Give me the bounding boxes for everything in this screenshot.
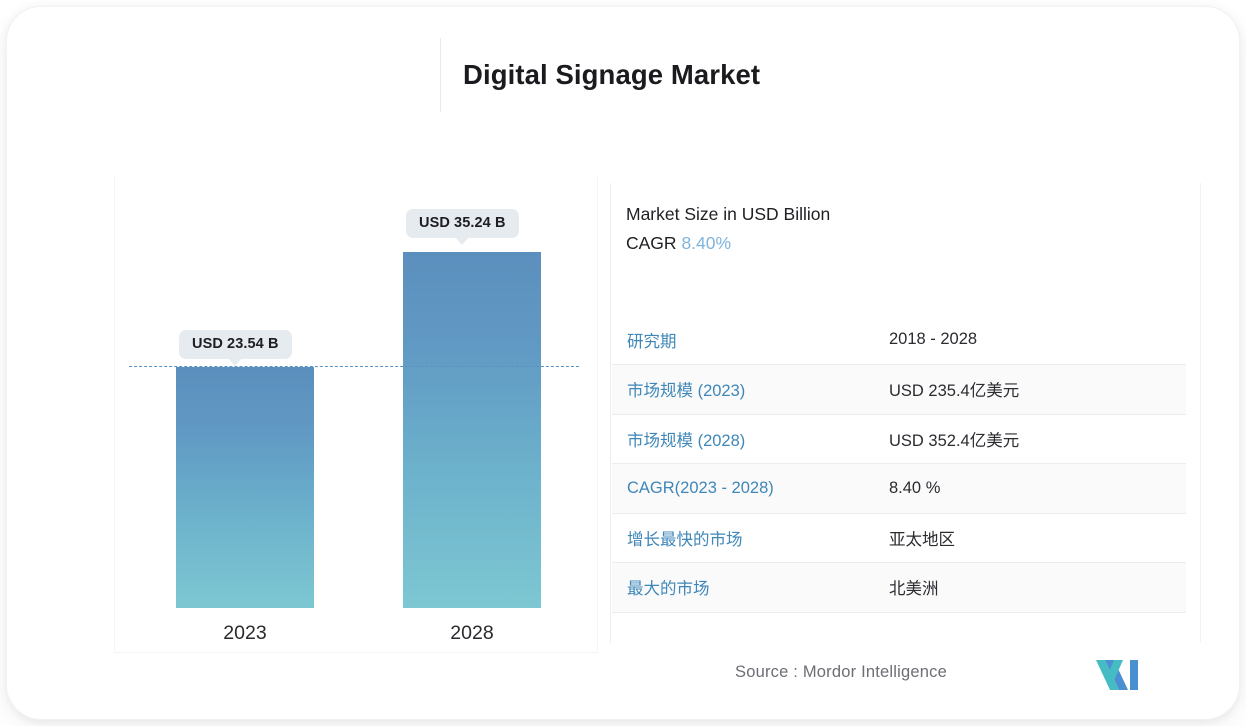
table-row: 市场规模 (2028) USD 352.4亿美元 xyxy=(612,414,1186,464)
footer: Source : Mordor Intelligence xyxy=(735,663,947,682)
page-title: Digital Signage Market xyxy=(463,59,760,91)
table-value: USD 235.4亿美元 xyxy=(889,365,1186,415)
bar-2023 xyxy=(176,367,314,608)
table-key: 研究期 xyxy=(612,315,889,365)
table-value: 2018 - 2028 xyxy=(889,315,1186,365)
table-key: 增长最快的市场 xyxy=(612,513,889,563)
market-summary-table: 研究期 2018 - 2028 市场规模 (2023) USD 235.4亿美元… xyxy=(612,315,1186,613)
info-header: Market Size in USD Billion CAGR 8.40% xyxy=(626,200,830,258)
table-key: 最大的市场 xyxy=(612,563,889,613)
page-title-block: Digital Signage Market xyxy=(440,38,760,112)
x-axis-label-2028: 2028 xyxy=(403,622,541,645)
bar-2028 xyxy=(403,252,541,608)
cagr-label: CAGR xyxy=(626,233,677,253)
table-row: 增长最快的市场 亚太地区 xyxy=(612,513,1186,563)
table-row: 研究期 2018 - 2028 xyxy=(612,315,1186,365)
table-body: 研究期 2018 - 2028 市场规模 (2023) USD 235.4亿美元… xyxy=(612,315,1186,612)
mordor-intelligence-logo-icon xyxy=(1095,658,1139,692)
bar-chart-plot: USD 23.54 B USD 35.24 B 2023 2028 xyxy=(115,175,599,653)
table-value: 亚太地区 xyxy=(889,513,1186,563)
chart-panel: USD 23.54 B USD 35.24 B 2023 2028 xyxy=(114,175,598,653)
reference-dashed-line xyxy=(129,366,579,367)
table-key: 市场规模 (2028) xyxy=(612,414,889,464)
x-axis-label-2023: 2023 xyxy=(176,622,314,645)
table-value: USD 352.4亿美元 xyxy=(889,414,1186,464)
info-panel: Market Size in USD Billion CAGR 8.40% 研究… xyxy=(610,183,1201,643)
bar-value-badge-2028: USD 35.24 B xyxy=(406,209,519,238)
metric-label: Market Size in USD Billion xyxy=(626,200,830,229)
cagr-line: CAGR 8.40% xyxy=(626,229,830,258)
table-key: 市场规模 (2023) xyxy=(612,365,889,415)
cagr-value: 8.40% xyxy=(681,233,731,253)
bar-value-badge-2023: USD 23.54 B xyxy=(179,330,292,359)
table-row: CAGR(2023 - 2028) 8.40 % xyxy=(612,464,1186,514)
table-key: CAGR(2023 - 2028) xyxy=(612,464,889,514)
source-attribution: Source : Mordor Intelligence xyxy=(735,663,947,682)
table-row: 市场规模 (2023) USD 235.4亿美元 xyxy=(612,365,1186,415)
infographic-root: Digital Signage Market USD 23.54 B USD 3… xyxy=(0,0,1246,726)
table-value: 8.40 % xyxy=(889,464,1186,514)
title-divider xyxy=(440,38,441,112)
table-row: 最大的市场 北美洲 xyxy=(612,563,1186,613)
table-value: 北美洲 xyxy=(889,563,1186,613)
